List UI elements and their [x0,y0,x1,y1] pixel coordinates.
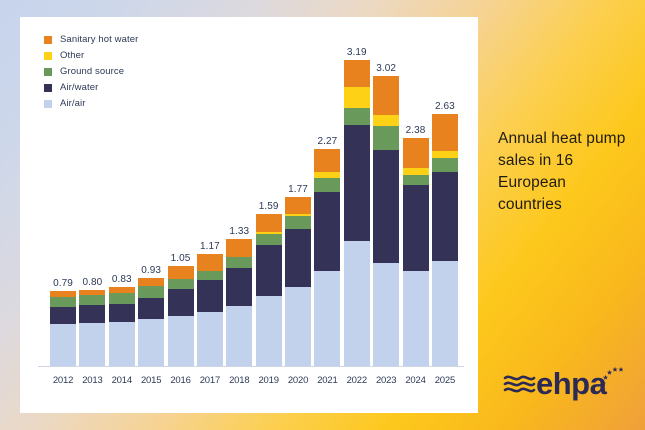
bar-total-label: 1.17 [200,241,220,252]
bar-stack [168,266,194,367]
bar-segment[interactable] [344,241,370,367]
bar-stack [314,149,340,367]
bar-stack [403,138,429,367]
bar-stack [50,291,76,367]
bar-segment[interactable] [432,158,458,171]
x-axis-tick-label: 2018 [226,375,252,389]
bar-segment[interactable] [197,254,223,270]
bar-stack [79,290,105,367]
bar-segment[interactable] [373,126,399,149]
bar-segment[interactable] [314,192,340,271]
bar-stack [197,254,223,367]
bar-segment[interactable] [403,175,429,186]
ehpa-wordmark: ehpa [536,366,608,401]
x-axis-tick-label: 2022 [344,375,370,389]
bar-column[interactable]: 2.38 [403,35,429,367]
bar-column[interactable]: 0.93 [138,35,164,367]
x-axis-line [38,366,464,367]
bar-segment[interactable] [432,151,458,158]
x-axis-tick-label: 2023 [373,375,399,389]
bar-segment[interactable] [344,108,370,124]
x-axis-tick-label: 2017 [197,375,223,389]
bar-segment[interactable] [138,319,164,367]
bar-segment[interactable] [344,87,370,108]
bar-segment[interactable] [256,214,282,232]
bar-segment[interactable] [256,234,282,245]
bar-total-label: 2.63 [435,101,455,112]
bar-total-label: 0.93 [141,265,161,276]
bar-column[interactable]: 3.02 [373,35,399,367]
bar-segment[interactable] [314,149,340,172]
x-axis-tick-label: 2016 [168,375,194,389]
bar-column[interactable]: 0.83 [109,35,135,367]
bar-column[interactable]: 0.79 [50,35,76,367]
bar-stack [373,76,399,367]
bar-segment[interactable] [285,287,311,367]
waves-icon [505,377,534,391]
bar-segment[interactable] [197,271,223,281]
bar-segment[interactable] [168,279,194,289]
bar-segment[interactable] [403,271,429,367]
page-title: Annual heat pump sales in 16 European co… [498,128,630,216]
bar-segment[interactable] [168,266,194,279]
bar-column[interactable]: 1.17 [197,35,223,367]
bar-column[interactable]: 2.27 [314,35,340,367]
bar-column[interactable]: 1.05 [168,35,194,367]
bar-segment[interactable] [138,298,164,319]
bar-segment[interactable] [256,245,282,296]
bar-segment[interactable] [403,185,429,271]
bar-total-label: 0.83 [112,274,132,285]
bar-column[interactable]: 3.19 [344,35,370,367]
bar-segment[interactable] [344,60,370,87]
bar-segment[interactable] [226,239,252,257]
bar-segment[interactable] [197,280,223,312]
bar-stack [109,287,135,367]
bar-total-label: 1.05 [171,253,191,264]
bar-total-label: 1.59 [259,201,279,212]
bar-segment[interactable] [79,323,105,367]
bar-segment[interactable] [168,289,194,316]
bar-segment[interactable] [285,216,311,229]
bar-segment[interactable] [314,172,340,179]
bar-segment[interactable] [197,312,223,367]
bar-total-label: 2.38 [406,125,426,136]
x-axis-tick-label: 2024 [403,375,429,389]
bar-segment[interactable] [256,296,282,367]
bar-segment[interactable] [285,229,311,287]
bar-series-group: 0.790.800.830.931.051.171.331.591.772.27… [50,35,458,367]
bar-segment[interactable] [79,295,105,306]
bar-segment[interactable] [226,257,252,268]
bar-column[interactable]: 1.33 [226,35,252,367]
bar-total-label: 3.02 [376,63,396,74]
bar-segment[interactable] [432,114,458,152]
bar-segment[interactable] [373,115,399,127]
bar-stack [256,214,282,367]
bar-segment[interactable] [168,316,194,367]
bar-total-label: 0.80 [82,277,102,288]
bar-column[interactable]: 1.59 [256,35,282,367]
x-axis-tick-label: 2025 [432,375,458,389]
bar-segment[interactable] [285,197,311,214]
ehpa-logo: ehpa [503,361,623,405]
bar-column[interactable]: 0.80 [79,35,105,367]
bar-segment[interactable] [109,304,135,322]
x-axis-tick-label: 2015 [138,375,164,389]
bar-segment[interactable] [403,168,429,175]
bar-segment[interactable] [50,307,76,323]
bar-segment[interactable] [138,278,164,287]
x-axis-tick-label: 2020 [285,375,311,389]
bar-segment[interactable] [50,324,76,367]
bar-segment[interactable] [373,150,399,264]
bar-segment[interactable] [373,76,399,114]
bar-segment[interactable] [226,306,252,367]
bar-stack [138,278,164,367]
chart-panel: Sanitary hot waterOtherGround sourceAir/… [20,17,478,413]
bar-total-label: 1.33 [229,226,249,237]
bar-segment[interactable] [432,261,458,367]
bar-total-label: 0.79 [53,278,73,289]
bar-segment[interactable] [50,297,76,308]
bar-segment[interactable] [432,172,458,261]
x-axis-tick-label: 2014 [109,375,135,389]
bar-segment[interactable] [344,125,370,241]
bar-segment[interactable] [109,322,135,367]
bar-segment[interactable] [79,305,105,322]
bar-segment[interactable] [226,268,252,306]
bar-segment[interactable] [109,293,135,304]
bar-segment[interactable] [403,138,429,168]
bar-segment[interactable] [314,178,340,191]
x-axis-tick-label: 2021 [314,375,340,389]
bar-column[interactable]: 1.77 [285,35,311,367]
bar-segment[interactable] [314,271,340,367]
x-axis-labels: 2012201320142015201620172018201920202021… [50,375,458,389]
bar-segment[interactable] [373,263,399,367]
bar-total-label: 2.27 [317,136,337,147]
bar-stack [226,239,252,367]
bar-stack [432,114,458,367]
bar-stack [344,60,370,367]
x-axis-tick-label: 2019 [256,375,282,389]
bar-column[interactable]: 2.63 [432,35,458,367]
bar-stack [285,197,311,367]
x-axis-tick-label: 2013 [79,375,105,389]
ehpa-logo-svg: ehpa [503,361,623,405]
bar-total-label: 1.77 [288,184,308,195]
plot-area: 0.790.800.830.931.051.171.331.591.772.27… [38,35,464,403]
bar-segment[interactable] [138,286,164,298]
bar-total-label: 3.19 [347,47,367,58]
x-axis-tick-label: 2012 [50,375,76,389]
